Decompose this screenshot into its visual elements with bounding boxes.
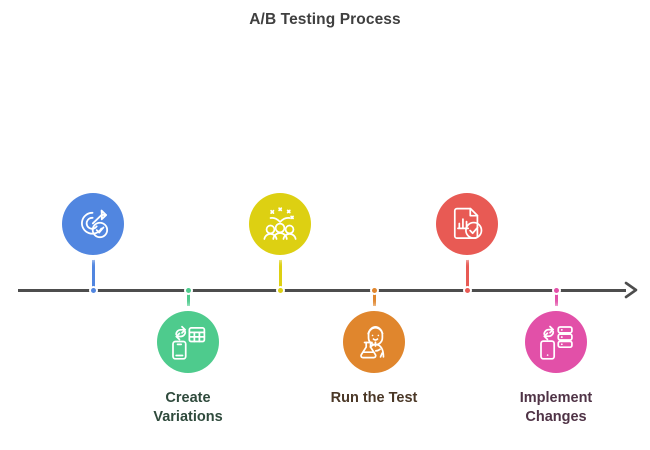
- audience-split-icon: [260, 204, 300, 244]
- timeline-axis: [18, 289, 626, 292]
- step-connector-stem: [279, 255, 282, 288]
- report-chart-check-icon: [448, 205, 486, 243]
- step-label: Create Variations: [103, 389, 273, 427]
- step-axis-dot[interactable]: [370, 286, 379, 295]
- phone-swap-server-icon: [536, 322, 576, 362]
- step-axis-dot[interactable]: [552, 286, 561, 295]
- timeline-arrow-right-icon: [620, 279, 642, 301]
- step-axis-dot[interactable]: [276, 286, 285, 295]
- step-label: Run the Test: [289, 389, 459, 408]
- step-icon-circle[interactable]: [249, 193, 311, 255]
- step-label: Implement Changes: [471, 389, 641, 427]
- scientist-flask-icon: [354, 322, 394, 362]
- step-icon-circle[interactable]: [157, 311, 219, 373]
- step-connector-stem: [466, 255, 469, 288]
- step-icon-circle[interactable]: [436, 193, 498, 255]
- step-icon-circle[interactable]: [62, 193, 124, 255]
- step-axis-dot[interactable]: [463, 286, 472, 295]
- step-icon-circle[interactable]: [343, 311, 405, 373]
- step-connector-stem: [92, 255, 95, 288]
- target-check-icon: [74, 205, 112, 243]
- infographic-canvas: A/B Testing Process Identify a Goal: [0, 0, 650, 450]
- step-axis-dot[interactable]: [184, 286, 193, 295]
- phone-swap-grid-icon: [168, 322, 208, 362]
- step-axis-dot[interactable]: [89, 286, 98, 295]
- page-title: A/B Testing Process: [0, 11, 650, 29]
- step-icon-circle[interactable]: [525, 311, 587, 373]
